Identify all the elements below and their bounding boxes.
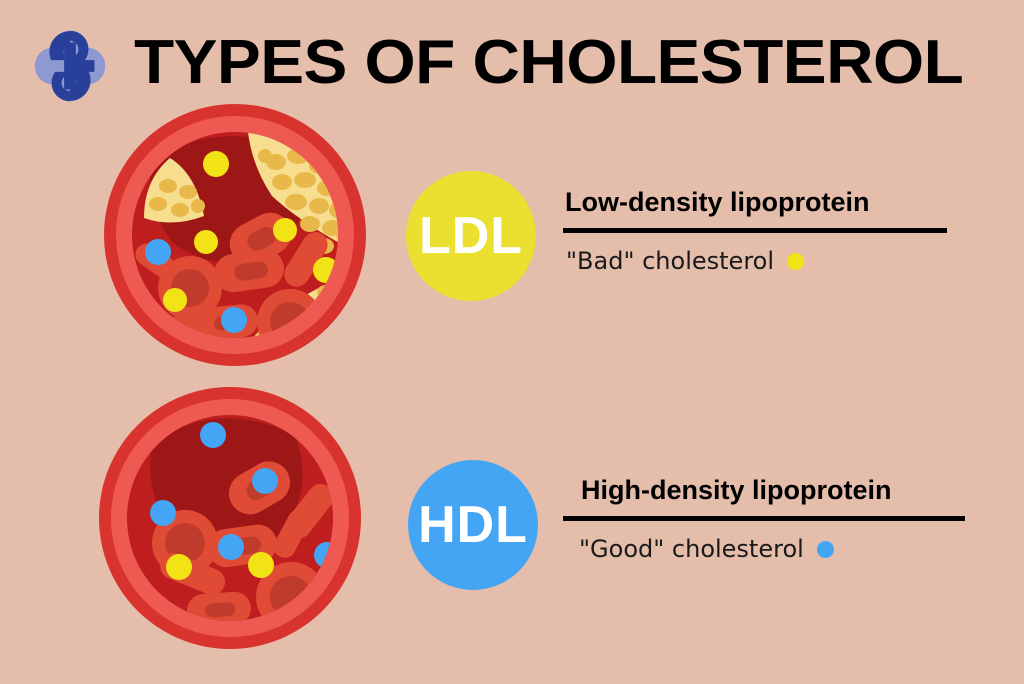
hdl-legend-dot-icon	[817, 541, 834, 558]
badge-hdl: HDL	[408, 460, 538, 590]
ldl-subtitle-row: "Bad" cholesterol	[563, 246, 963, 276]
hdl-artery-cross-section	[95, 383, 365, 653]
ldl-subtitle: "Bad" cholesterol	[566, 246, 774, 276]
ldl-divider	[563, 228, 947, 233]
hdl-section: HDL High-density lipoprotein "Good" chol…	[0, 385, 1024, 665]
hdl-divider	[563, 516, 965, 521]
ldl-title: Low-density lipoprotein	[563, 185, 963, 219]
ldl-section: LDL Low-density lipoprotein "Bad" choles…	[0, 100, 1024, 380]
hdl-subtitle-row: "Good" cholesterol	[563, 534, 963, 564]
page-title: TYPES OF CHOLESTEROL	[134, 25, 1024, 101]
hdl-info-block: High-density lipoprotein "Good" choleste…	[563, 473, 963, 564]
badge-ldl: LDL	[406, 171, 536, 301]
badge-ldl-label: LDL	[419, 206, 523, 266]
hdl-subtitle: "Good" cholesterol	[579, 534, 804, 564]
badge-hdl-label: HDL	[418, 495, 528, 555]
infographic-canvas: TYPES OF CHOLESTEROL	[0, 0, 1024, 684]
hdl-title: High-density lipoprotein	[563, 473, 963, 507]
ldl-artery-cross-section	[100, 100, 370, 370]
ldl-info-block: Low-density lipoprotein "Bad" cholestero…	[563, 185, 963, 276]
ldl-legend-dot-icon	[787, 253, 804, 270]
pinwheel-cross-logo	[28, 24, 112, 108]
